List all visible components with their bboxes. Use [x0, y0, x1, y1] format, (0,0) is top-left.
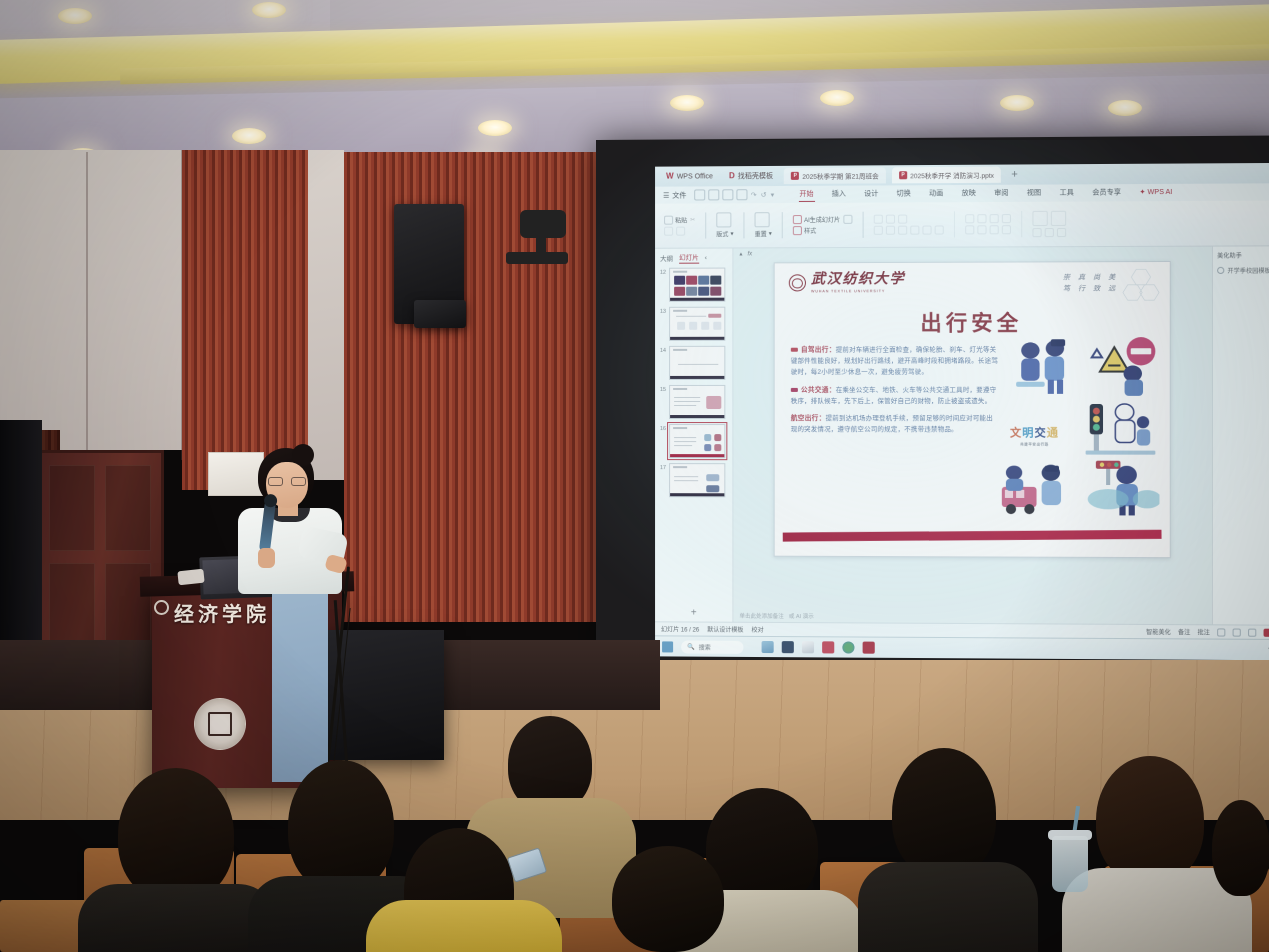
- cloud-sync-icon[interactable]: [722, 189, 733, 200]
- powerpoint-file-icon: P: [791, 172, 799, 180]
- presenter-legs: [272, 586, 328, 782]
- beautify-suggestion-item[interactable]: 开学季校园模板: [1217, 266, 1269, 275]
- wall-seam: [86, 152, 88, 452]
- italic-icon[interactable]: [886, 226, 895, 235]
- photos-icon[interactable]: [802, 641, 814, 653]
- redo-icon[interactable]: ↺: [761, 191, 767, 199]
- copy-icon: [664, 227, 673, 236]
- wall-wood-panel: [182, 150, 310, 490]
- windows-taskbar: 🔍 搜索 ^ ◑: [655, 635, 1269, 660]
- audience-shoulders: [858, 862, 1038, 952]
- ptz-camera: [520, 210, 566, 238]
- thumbnail-preview: [669, 346, 725, 380]
- reset-label: 重置: [755, 229, 767, 238]
- outline-tabs: 大纲 幻灯片 ‹: [655, 248, 732, 265]
- ribbon-tab-review[interactable]: 审阅: [985, 187, 1018, 200]
- slide-body-text: 自驾出行：提前对车辆进行全面检查，确保轮胎、刹车、灯光等关键部件性能良好，规划好…: [791, 343, 999, 440]
- slideshow-icon[interactable]: [1264, 628, 1269, 636]
- drink-cup: [1052, 836, 1088, 892]
- function-icon: fx: [747, 251, 752, 257]
- file-menu-label: 文件: [672, 190, 686, 200]
- ribbon-tab-membership[interactable]: 会员专享: [1083, 186, 1130, 199]
- new-slide-icon[interactable]: [716, 212, 731, 227]
- audience-head: [1096, 756, 1204, 884]
- ribbon-tab-tools[interactable]: 工具: [1050, 186, 1083, 199]
- wps-home-button[interactable]: W WPS Office: [661, 170, 718, 182]
- slide-paragraph: 航空出行：提前到达机场办理登机手续，预留足够的时间应对可能出现的突发情况，遵守航…: [791, 412, 999, 436]
- scissors-icon: ✂: [690, 217, 695, 224]
- wps-logo-icon: W: [666, 173, 674, 181]
- notes-ai-hint: 或 AI 演示: [789, 612, 814, 620]
- presenter-glasses: [268, 477, 306, 486]
- car-icon: [791, 348, 798, 352]
- ceiling-downlight: [1108, 100, 1142, 116]
- audience-head: [1212, 800, 1269, 896]
- university-seal: [194, 698, 246, 750]
- traffic-light-illustration: [1084, 400, 1158, 459]
- hexagon-watermark-icon: [1123, 268, 1160, 303]
- ceiling-downlight: [670, 95, 704, 111]
- paragraph-group: [962, 214, 1014, 234]
- save-icon[interactable]: [694, 189, 705, 200]
- thumbnail-preview: [669, 385, 725, 419]
- notes-button[interactable]: 备注: [1178, 627, 1190, 636]
- section-icon[interactable]: [755, 212, 770, 227]
- notes-placeholder-text: 单击此处添加备注: [739, 612, 783, 620]
- ceiling-downlight: [252, 2, 286, 18]
- undo-icon[interactable]: ↷: [751, 191, 757, 199]
- search-icon: 🔍: [687, 643, 695, 650]
- college-logo-icon: [154, 600, 169, 615]
- reading-view-icon[interactable]: [1248, 628, 1256, 636]
- cut-button[interactable]: ✂: [690, 217, 695, 224]
- ceiling-downlight: [232, 128, 266, 144]
- thumbnail-preview: [669, 268, 725, 302]
- reset-button[interactable]: 重置 ▾: [755, 229, 772, 238]
- camera-arm: [536, 236, 546, 258]
- line-spacing-icon[interactable]: [1002, 225, 1011, 234]
- thumbnail-preview: [669, 463, 725, 497]
- ai-more-icon[interactable]: [843, 215, 852, 224]
- layout-button[interactable]: 版式 ▾: [716, 229, 733, 238]
- motto-line-1: 崇 真 尚 美: [1063, 272, 1119, 283]
- ceiling-downlight: [1000, 95, 1034, 111]
- ribbon-tab-view[interactable]: 视图: [1018, 187, 1051, 200]
- docer-template-tab[interactable]: D 找稻壳模板: [724, 169, 778, 183]
- wall-plaster-strip: [308, 150, 344, 480]
- numbered-list-icon[interactable]: [977, 214, 986, 223]
- new-tab-button[interactable]: +: [1007, 169, 1022, 181]
- wechat-icon[interactable]: [822, 641, 834, 653]
- beautify-panel-title: 美化助手: [1217, 251, 1242, 260]
- drawing-group: [1029, 211, 1069, 237]
- wps-app-name: WPS Office: [677, 173, 713, 180]
- file-menu-button[interactable]: ☰ 文件: [661, 190, 692, 200]
- chevron-down-icon: ▾: [769, 230, 772, 237]
- clipboard-group: 粘贴 ✂: [661, 216, 698, 236]
- wps-work-area: 大纲 幻灯片 ‹ 12: [655, 246, 1269, 624]
- print-icon[interactable]: [708, 189, 719, 200]
- slide-sorter-icon[interactable]: [1233, 628, 1241, 636]
- thumbnail-preview: [669, 307, 725, 341]
- weather-widget-icon[interactable]: [762, 641, 774, 653]
- thumbnail-number: 16: [658, 424, 666, 432]
- ribbon-tab-animation[interactable]: 动画: [920, 187, 953, 200]
- ribbon-tab-list: 开始 插入 设计 切换 动画 放映 审阅 视图 工具 会员专享 ✦ WPS AI: [790, 186, 1181, 201]
- chevron-down-icon: ▾: [730, 230, 733, 237]
- font-color-icon[interactable]: [922, 226, 931, 235]
- slides-tab[interactable]: 幻灯片: [679, 252, 699, 264]
- wps-ai-label: WPS AI: [1148, 188, 1173, 195]
- ribbon-divider: [954, 211, 955, 237]
- traffic-police-illustration: [1086, 459, 1160, 518]
- design-template-label[interactable]: 默认设计模板: [707, 625, 743, 634]
- thumbnail-item[interactable]: 13: [658, 307, 729, 341]
- grow-font-icon[interactable]: [898, 215, 907, 224]
- ceiling-downlight: [58, 8, 92, 24]
- font-family-icon[interactable]: [874, 215, 883, 224]
- outline-tab[interactable]: 大纲: [660, 253, 673, 263]
- copy-button[interactable]: [664, 227, 673, 236]
- document-tab-2[interactable]: P 2025秋季开学 消防演习.pptx: [892, 167, 1001, 184]
- shape-effects-icon[interactable]: [1057, 228, 1066, 237]
- paste-icon: [664, 216, 673, 225]
- motto-line-2: 笃 行 致 远: [1063, 284, 1119, 295]
- ribbon-divider: [782, 212, 783, 238]
- style-icon: [793, 226, 802, 235]
- door-panel: [105, 465, 151, 551]
- ribbon-tab-transition[interactable]: 切换: [887, 187, 919, 200]
- ribbon-tab-home[interactable]: 开始: [790, 188, 822, 201]
- beautify-assistant-panel: 美化助手 › 开学季校园模板: [1212, 246, 1269, 624]
- section-group: 重置 ▾: [752, 212, 775, 238]
- formula-bar: ▴ fx: [733, 247, 1212, 260]
- taskbar-app-list: [762, 641, 875, 654]
- ribbon-tab-wps-ai[interactable]: ✦ WPS AI: [1130, 187, 1181, 198]
- no-entry-sign-illustration: [1088, 337, 1160, 400]
- ai-group: AI生成幻灯片 样式: [790, 215, 855, 235]
- beautify-suggestion-label: 开学季校园模板: [1227, 266, 1269, 275]
- ai-generate-label: AI生成幻灯片: [804, 215, 840, 224]
- taskbar-search-box[interactable]: 🔍 搜索: [681, 640, 743, 653]
- slide-thumbnail-panel: 大纲 幻灯片 ‹ 12: [655, 248, 733, 621]
- font-group: [870, 214, 946, 234]
- style-label: 样式: [804, 226, 816, 235]
- slide-accent-bar: [783, 530, 1162, 542]
- docer-icon: D: [729, 172, 735, 180]
- ai-generate-slide-button[interactable]: AI生成幻灯片: [793, 215, 840, 224]
- arrange-icon[interactable]: [1051, 211, 1066, 226]
- share-icon[interactable]: [736, 189, 747, 200]
- ribbon-divider: [744, 212, 745, 238]
- wall-plaster-left: [0, 150, 182, 450]
- thumbnail-number: 14: [658, 346, 666, 354]
- projection-screen: W WPS Office D 找稻壳模板 P 2025秋季学期 第21周班会 P…: [596, 135, 1269, 674]
- lightbulb-icon: [1217, 267, 1224, 274]
- audience-shoulders: [366, 900, 562, 952]
- audience-head: [892, 748, 996, 878]
- format-painter-button[interactable]: [676, 227, 685, 236]
- slide-editing-area[interactable]: ▴ fx 武汉纺织大学 WUHAN TEXTILE UNIVERSITY: [733, 247, 1212, 625]
- strikethrough-icon[interactable]: [910, 226, 919, 235]
- highlight-icon[interactable]: [934, 225, 943, 234]
- thumbnail-number: 17: [658, 463, 666, 471]
- ceiling-downlight: [820, 90, 854, 106]
- thumbnail-number: 15: [658, 385, 666, 393]
- collapse-ribbon-icon[interactable]: ▴: [739, 250, 742, 257]
- notes-placeholder[interactable]: 单击此处添加备注 或 AI 演示: [739, 612, 813, 620]
- ai-sparkle-icon: [793, 215, 802, 224]
- shape-fill-icon[interactable]: [1032, 228, 1041, 237]
- wall-notice: [208, 452, 264, 496]
- shape-outline-icon[interactable]: [1044, 228, 1053, 237]
- ribbon-divider: [1021, 211, 1022, 237]
- thumbnail-item[interactable]: 12: [658, 268, 729, 302]
- layout-label: 版式: [716, 229, 728, 238]
- paste-label: 粘贴: [675, 216, 687, 225]
- format-painter-icon: [676, 227, 685, 236]
- university-name-en: WUHAN TEXTILE UNIVERSITY: [811, 289, 905, 293]
- civilized-traffic-watermark: 文明交通 共建平安出行路: [1010, 424, 1059, 446]
- university-seal-icon: [789, 275, 806, 292]
- document-tab-2-label: 2025秋季开学 消防演习.pptx: [910, 170, 994, 181]
- presenter-hand-left: [258, 548, 275, 568]
- audience-head: [288, 760, 394, 892]
- thumbnail-number: 12: [658, 268, 666, 276]
- microphone-base: [177, 569, 204, 586]
- quick-access-more-icon[interactable]: ▾: [771, 191, 775, 199]
- increase-indent-icon[interactable]: [1002, 214, 1011, 223]
- sparkle-icon: ✦: [1139, 188, 1145, 196]
- thumbnail-item[interactable]: 17: [658, 463, 729, 497]
- hamburger-icon: ☰: [663, 191, 669, 199]
- underline-icon[interactable]: [898, 226, 907, 235]
- search-placeholder: 搜索: [699, 642, 711, 651]
- speaker-bracket: [414, 300, 466, 328]
- align-right-icon[interactable]: [989, 225, 998, 234]
- thumbnail-preview: [669, 424, 725, 458]
- thumbnail-number: 13: [658, 307, 666, 315]
- paragraph-lead: 自驾出行：: [801, 347, 836, 354]
- thumbnail-list[interactable]: 12: [655, 266, 732, 607]
- document-tab-1-label: 2025秋季学期 第21周班会: [802, 170, 878, 180]
- align-center-icon[interactable]: [977, 225, 986, 234]
- docer-label: 找稻壳模板: [738, 171, 773, 181]
- document-tab-1[interactable]: P 2025秋季学期 第21周班会: [784, 167, 886, 184]
- wps-office-window: W WPS Office D 找稻壳模板 P 2025秋季学期 第21周班会 P…: [655, 163, 1269, 660]
- pedestrians-crossing-illustration: [1010, 337, 1077, 396]
- slide-university-branding: 武汉纺织大学 WUHAN TEXTILE UNIVERSITY: [789, 273, 905, 293]
- slides-group: 版式 ▾: [713, 212, 736, 238]
- normal-view-icon[interactable]: [1217, 628, 1225, 636]
- thumbnail-item[interactable]: 15: [658, 385, 729, 419]
- beautify-panel-header: 美化助手 ›: [1217, 250, 1269, 259]
- thumbnail-item[interactable]: 14: [658, 346, 729, 380]
- ribbon-divider: [862, 212, 863, 238]
- lecture-hall-scene: W WPS Office D 找稻壳模板 P 2025秋季学期 第21周班会 P…: [0, 0, 1269, 952]
- audience-head: [612, 846, 724, 952]
- decrease-indent-icon[interactable]: [989, 214, 998, 223]
- university-name-cn: 武汉纺织大学: [811, 273, 905, 287]
- ceiling-downlight: [478, 120, 512, 136]
- comments-button[interactable]: 批注: [1197, 627, 1209, 636]
- slide-paragraph: 公共交通：在乘坐公交车、地铁、火车等公共交通工具时，要遵守秩序，排队候车，先下后…: [791, 383, 999, 407]
- status-bar-right: 智能美化 备注 批注 ▾: [1146, 627, 1269, 637]
- current-slide[interactable]: 武汉纺织大学 WUHAN TEXTILE UNIVERSITY 崇 真 尚 美 …: [774, 261, 1171, 558]
- font-size-icon[interactable]: [886, 215, 895, 224]
- lectern-label: 经济学院: [174, 598, 270, 627]
- ribbon-tab-design[interactable]: 设计: [855, 187, 887, 200]
- chrome-icon[interactable]: [842, 641, 854, 653]
- shapes-icon[interactable]: [1032, 211, 1047, 226]
- powerpoint-file-icon: P: [899, 171, 907, 179]
- file-explorer-icon[interactable]: [782, 641, 794, 653]
- civilized-traffic-subtitle: 共建平安出行路: [1010, 441, 1059, 446]
- collapse-panel-icon[interactable]: ‹: [705, 254, 707, 261]
- audience-head: [118, 768, 234, 902]
- paste-button[interactable]: 粘贴: [664, 216, 687, 225]
- thumbnail-item-selected[interactable]: 16: [658, 424, 729, 458]
- ribbon-tab-slideshow[interactable]: 放映: [952, 187, 985, 200]
- proofing-label[interactable]: 校对: [752, 625, 764, 634]
- slide-illustrations: 文明交通 共建平安出行路: [1000, 337, 1164, 515]
- add-slide-button[interactable]: +: [655, 606, 732, 621]
- paragraph-lead: 公共交通：: [801, 386, 836, 393]
- bus-icon: [791, 388, 798, 392]
- university-motto: 崇 真 尚 美 笃 行 致 远: [1063, 272, 1119, 295]
- windows-start-icon[interactable]: [662, 641, 673, 652]
- slide-paragraph: 自驾出行：提前对车辆进行全面检查，确保轮胎、刹车、灯光等关键部件性能良好，规划好…: [791, 343, 999, 378]
- ribbon-toolbar: 粘贴 ✂: [655, 201, 1269, 249]
- wps-icon[interactable]: [863, 642, 875, 654]
- bold-icon[interactable]: [874, 226, 883, 235]
- smart-beautify-button[interactable]: 智能美化: [1146, 627, 1171, 636]
- bullet-list-icon[interactable]: [965, 214, 974, 223]
- bus-boarding-illustration: [1000, 461, 1076, 518]
- ribbon-divider: [705, 212, 706, 238]
- paragraph-lead: 航空出行：: [791, 415, 826, 422]
- align-left-icon[interactable]: [965, 225, 974, 234]
- door-panel: [49, 465, 95, 551]
- slide-title: 出行安全: [775, 307, 1170, 338]
- slide-counter: 幻灯片 16 / 26: [661, 624, 699, 633]
- ribbon-tab-insert[interactable]: 插入: [823, 188, 855, 201]
- style-button[interactable]: 样式: [793, 226, 816, 235]
- projected-image: W WPS Office D 找稻壳模板 P 2025秋季学期 第21周班会 P…: [655, 163, 1269, 660]
